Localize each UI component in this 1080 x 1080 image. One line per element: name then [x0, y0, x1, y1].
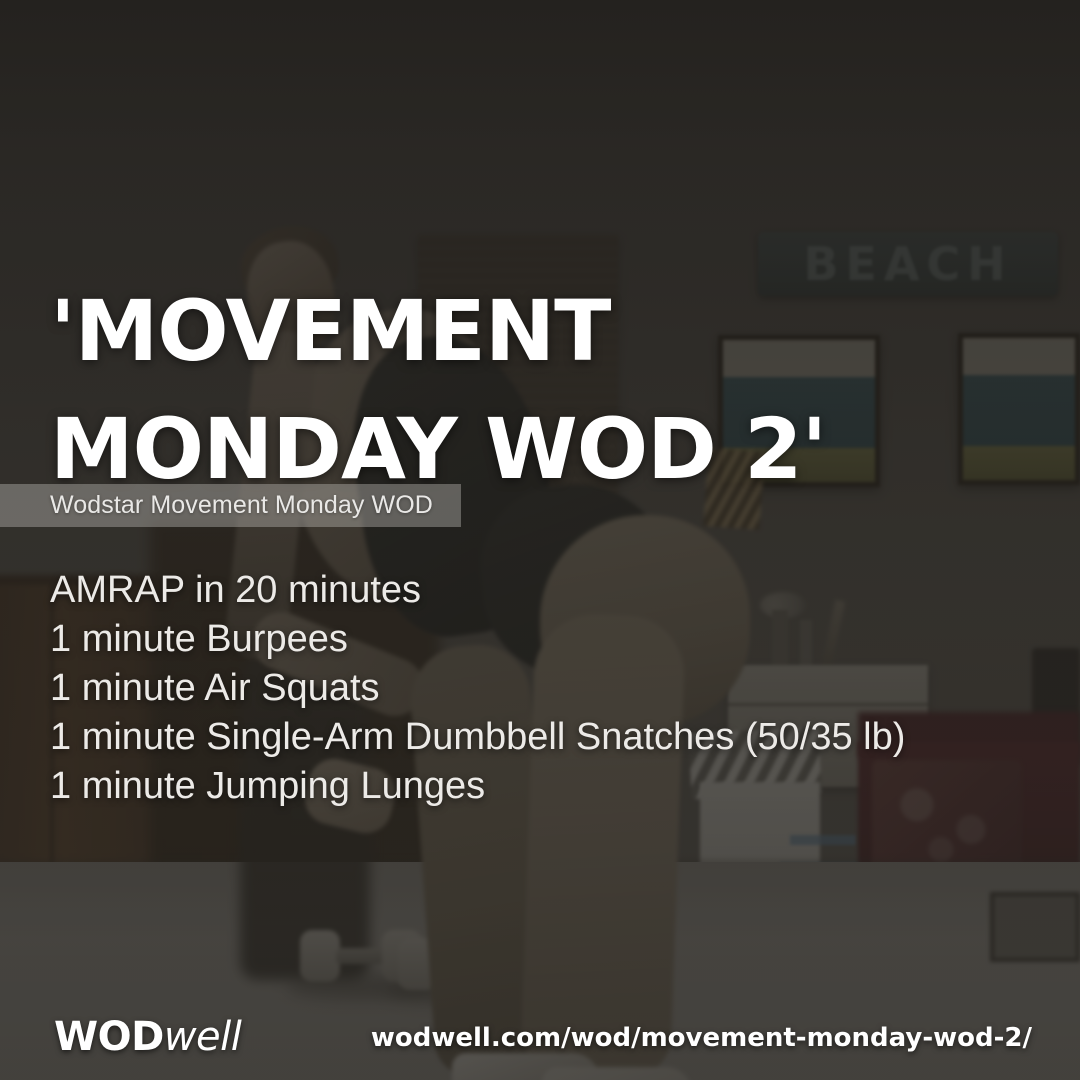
logo-well: well	[164, 1014, 242, 1060]
wod-description: AMRAP in 20 minutes 1 minute Burpees 1 m…	[50, 566, 1010, 811]
wod-subtitle: Wodstar Movement Monday WOD	[50, 491, 433, 520]
content-layer: 'MOVEMENT MONDAY WOD 2' Wodstar Movement…	[0, 0, 1080, 1080]
wod-url[interactable]: wodwell.com/wod/movement-monday-wod-2/	[371, 1023, 1032, 1053]
wod-title: 'MOVEMENT MONDAY WOD 2'	[50, 272, 1010, 508]
wod-image-card: BEACH	[0, 0, 1080, 1080]
wod-subtitle-band: Wodstar Movement Monday WOD	[0, 484, 461, 527]
logo-wod: WOD	[54, 1014, 164, 1060]
wodwell-logo[interactable]: WODwell	[54, 1014, 241, 1060]
